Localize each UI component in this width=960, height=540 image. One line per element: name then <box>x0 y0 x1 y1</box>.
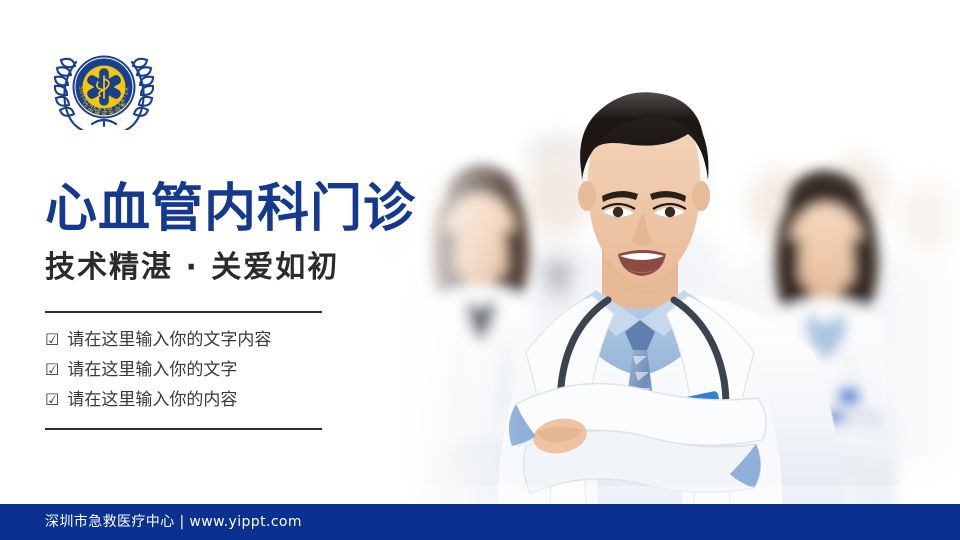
medical-team-photo <box>330 0 960 510</box>
footer-bar: 深圳市急救医疗中心 | www.yippt.com <box>0 504 960 540</box>
list-item: ☑ 请在这里输入你的内容 <box>45 385 375 415</box>
list-item-label: 请在这里输入你的文字 <box>67 355 237 385</box>
list-item: ☑ 请在这里输入你的文字 <box>45 355 375 385</box>
list-item-label: 请在这里输入你的内容 <box>67 385 237 415</box>
shenzhen-emergency-medical-center-logo: 深圳市急救中心 SHENZHEN EM CENTER <box>46 44 162 130</box>
list-item: ☑ 请在这里输入你的文字内容 <box>45 325 375 355</box>
page-title: 心血管内科门诊 <box>45 183 416 235</box>
divider-top <box>45 311 322 313</box>
bullet-list: ☑ 请在这里输入你的文字内容 ☑ 请在这里输入你的文字 ☑ 请在这里输入你的内容 <box>45 325 375 415</box>
slide-canvas: 深圳市急救中心 SHENZHEN EM CENTER 心血管内科门诊 技术精湛 … <box>0 0 960 540</box>
footer-text: 深圳市急救医疗中心 | www.yippt.com <box>45 504 302 540</box>
checkbox-checked-icon: ☑ <box>45 385 59 415</box>
divider-bottom <box>45 428 322 430</box>
checkbox-checked-icon: ☑ <box>45 325 59 355</box>
checkbox-checked-icon: ☑ <box>45 355 59 385</box>
page-subtitle: 技术精湛 · 关爱如初 <box>45 253 339 283</box>
list-item-label: 请在这里输入你的文字内容 <box>67 325 271 355</box>
